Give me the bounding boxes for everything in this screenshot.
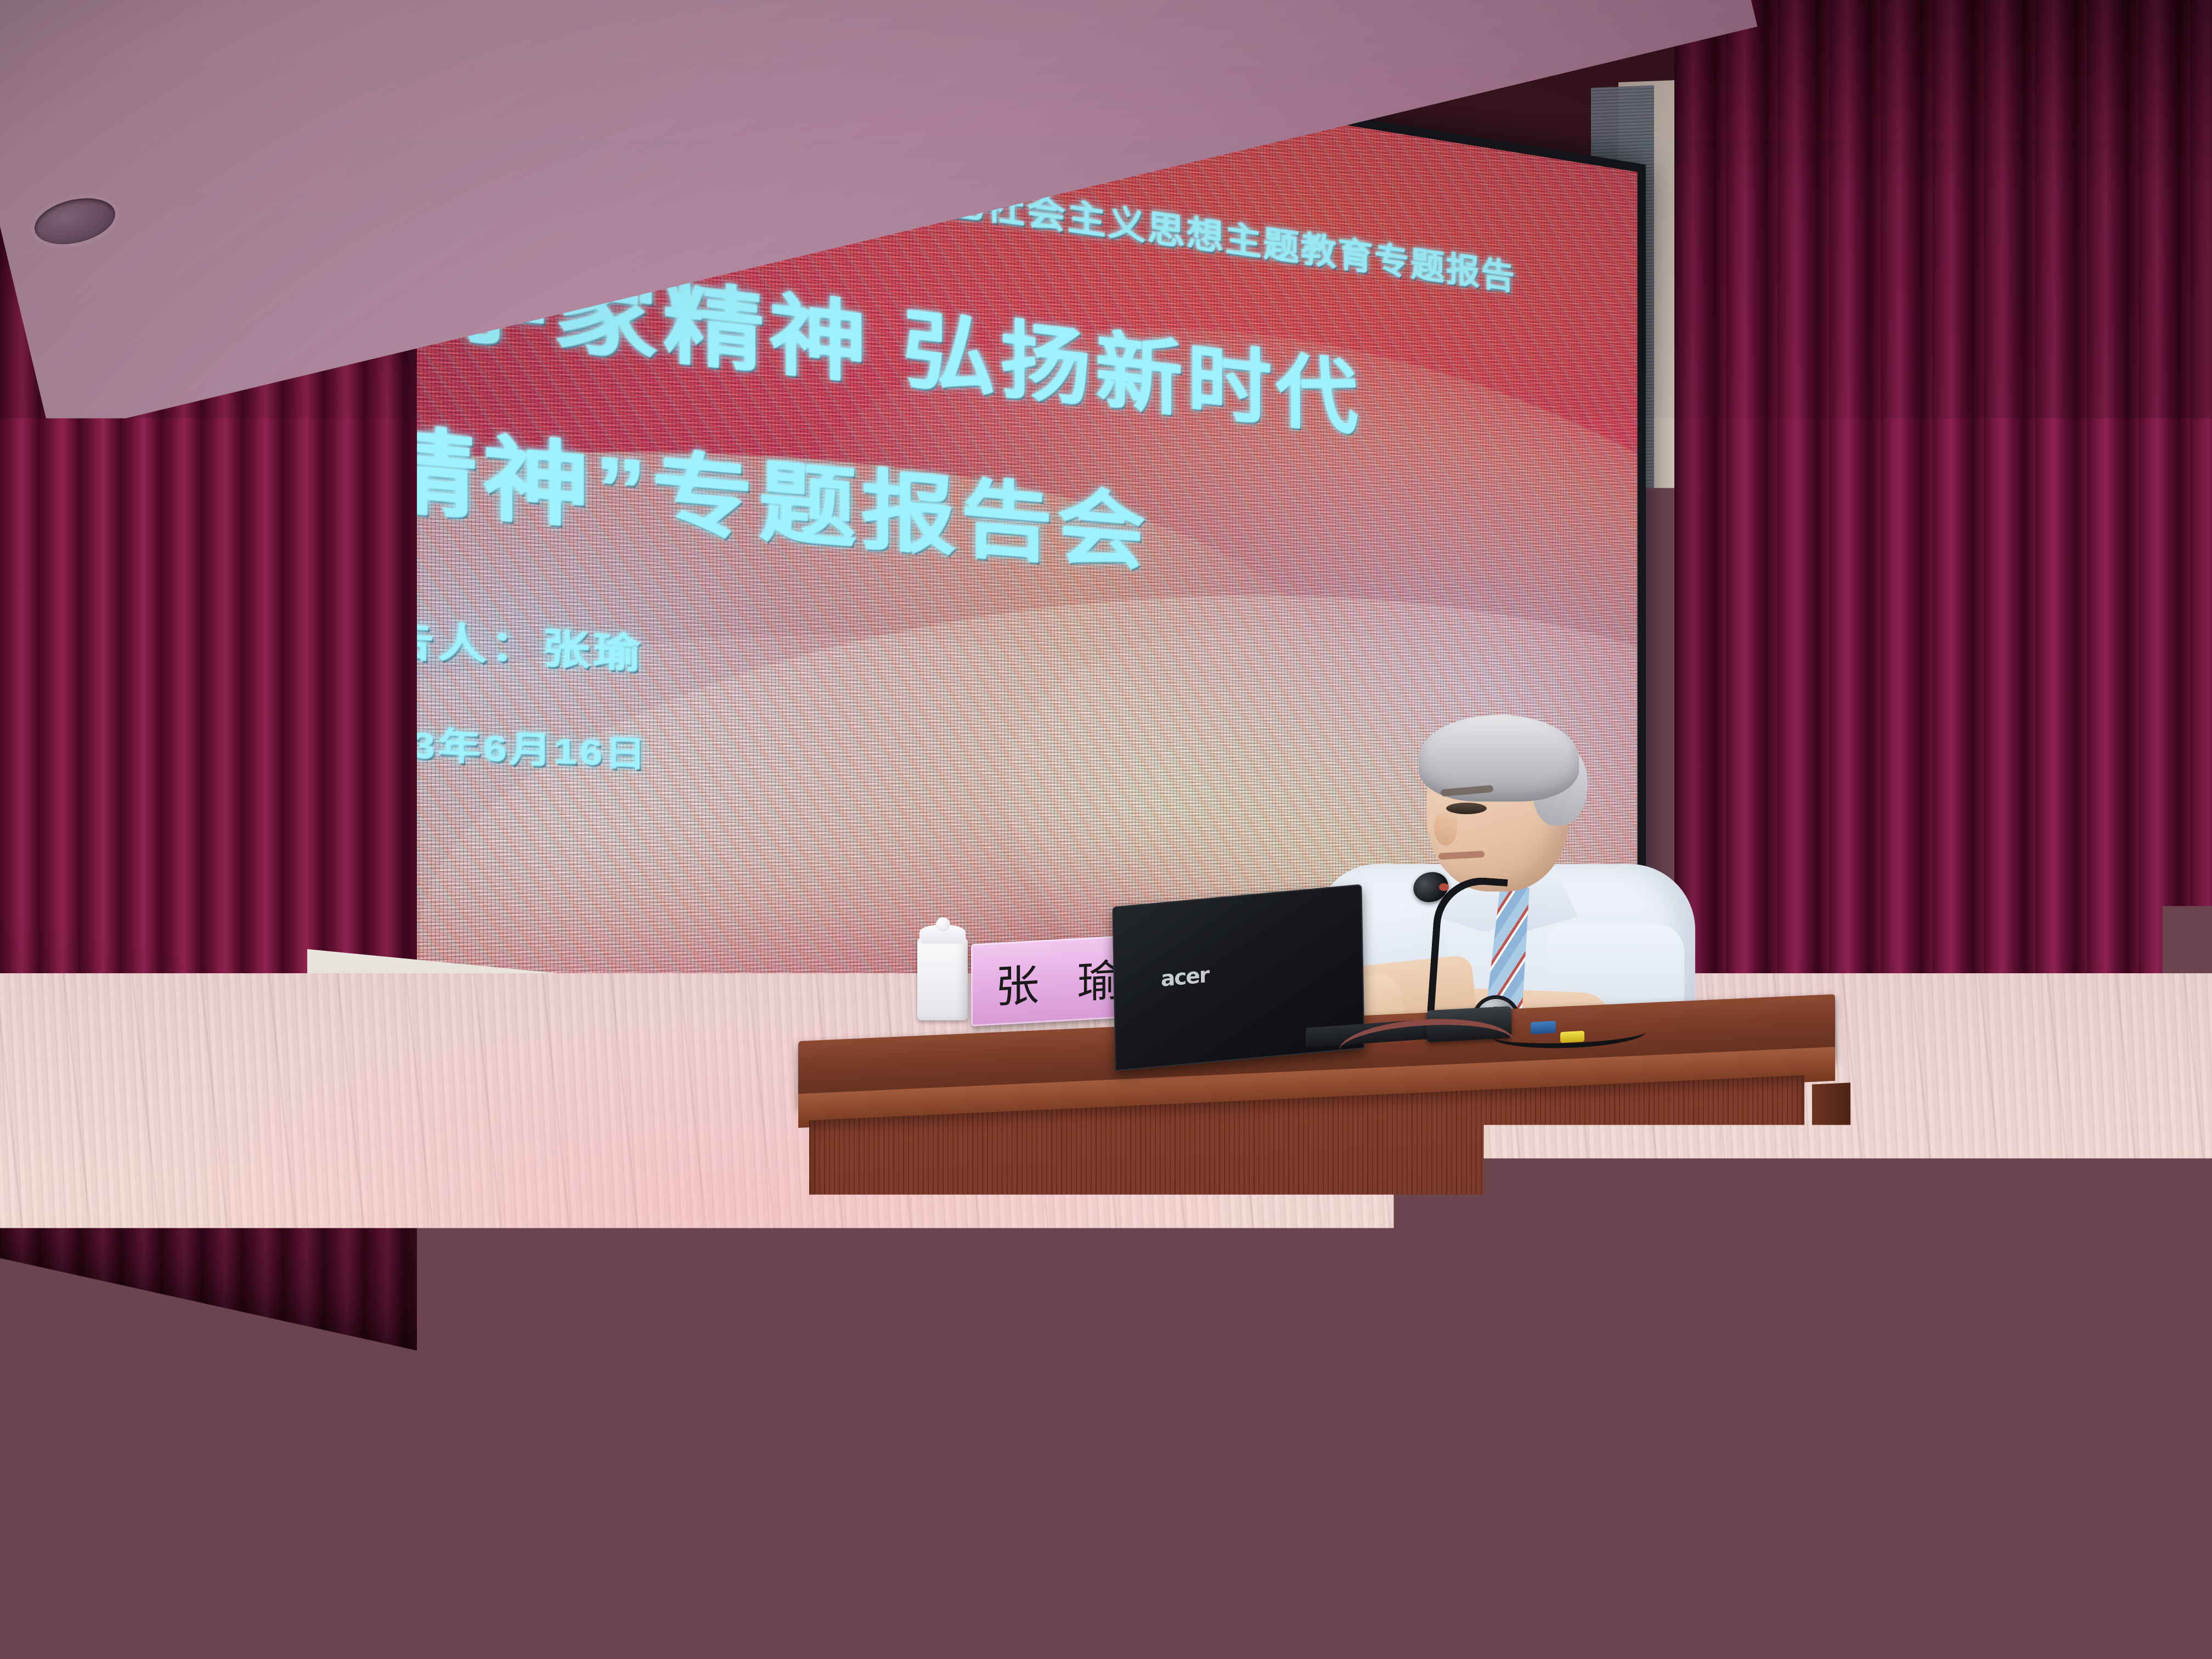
chair-armrest-highlight <box>1850 1185 1860 1251</box>
nameplate-text: 张 瑜 <box>983 944 1133 1016</box>
desk-raised-panel <box>875 1239 1215 1595</box>
presenter-desk <box>798 1018 1835 1659</box>
desk-right-side <box>1812 1082 1850 1622</box>
tea-cup[interactable] <box>917 938 968 1020</box>
desk-front-panel <box>809 1075 1804 1614</box>
lecture-hall-photo: 中国科学院大学学习贯彻习近平新时代中国特色社会主义思想主题教育专题报告 “传承老… <box>0 0 2212 1659</box>
speaker-nose <box>1434 812 1457 845</box>
acer-logo-icon: acer <box>1160 963 1209 992</box>
desk-raised-panel <box>1358 1239 1698 1595</box>
speaker-hair <box>1419 715 1579 802</box>
yellow-connector <box>1560 1031 1584 1043</box>
microphone-tip <box>1439 883 1449 891</box>
tea-cup-lid-knob <box>936 917 950 932</box>
blue-connector <box>1531 1021 1556 1034</box>
recessed-downlight-icon <box>30 191 120 252</box>
